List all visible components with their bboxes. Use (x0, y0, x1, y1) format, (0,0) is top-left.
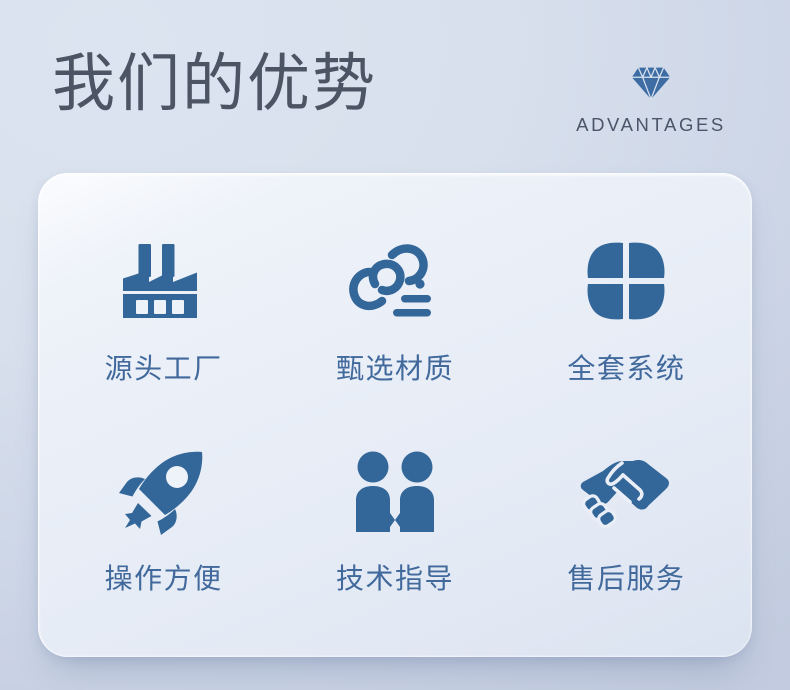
advantages-section: 我们的优势 ADVANTAGES (0, 0, 790, 690)
feature-item-technical-guidance[interactable]: 技术指导 (279, 417, 510, 629)
feature-item-after-sales-service[interactable]: 售后服务 (511, 417, 742, 629)
rocket-icon (118, 449, 210, 537)
page-title: 我们的优势 (52, 48, 377, 120)
feature-grid: 源头工厂 (38, 173, 752, 657)
feature-label: 甄选材质 (336, 347, 454, 387)
four-petals-icon (580, 235, 672, 327)
chain-link-icon (349, 235, 441, 327)
feature-label: 全套系统 (567, 347, 685, 387)
feature-label: 操作方便 (105, 557, 223, 597)
feature-item-easy-operation[interactable]: 操作方便 (48, 417, 279, 629)
feature-item-complete-system[interactable]: 全套系统 (511, 205, 742, 417)
feature-item-source-factory[interactable]: 源头工厂 (48, 205, 279, 417)
two-people-icon (349, 449, 441, 537)
diamond-icon (631, 66, 671, 100)
feature-label: 售后服务 (567, 557, 685, 597)
handshake-icon (580, 449, 672, 537)
advantages-label: ADVANTAGES (556, 114, 746, 136)
feature-label: 技术指导 (336, 557, 454, 597)
advantages-badge: ADVANTAGES (556, 66, 746, 136)
factory-icon (118, 235, 210, 327)
feature-label: 源头工厂 (105, 347, 223, 387)
feature-item-selected-material[interactable]: 甄选材质 (279, 205, 510, 417)
section-header: 我们的优势 ADVANTAGES (0, 0, 790, 168)
advantages-card: 源头工厂 (38, 173, 752, 657)
